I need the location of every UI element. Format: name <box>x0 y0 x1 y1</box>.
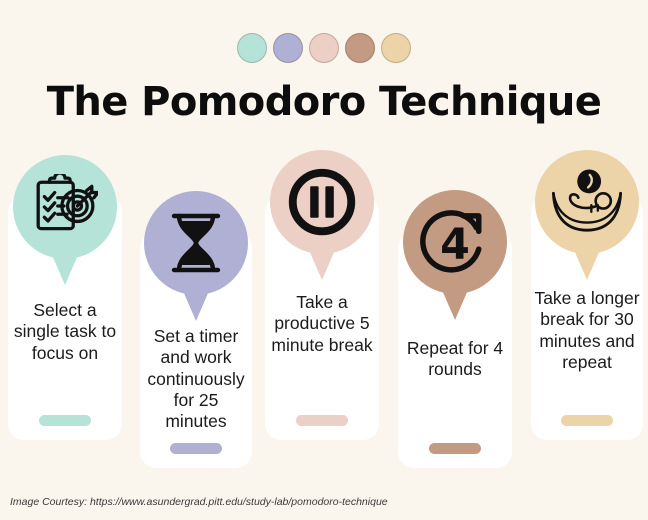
step-card-5: Take a longer break for 30 minutes and r… <box>531 196 643 440</box>
step-icon-bubble-2 <box>144 191 248 295</box>
pause-circle-icon <box>286 166 358 238</box>
step-text-5: Take a longer break for 30 minutes and r… <box>533 288 641 373</box>
swatch-blush <box>309 33 339 63</box>
bubble-tail <box>52 255 78 285</box>
step-icon-bubble-4: 4 <box>403 190 507 294</box>
step-pill-1 <box>39 415 91 426</box>
step-icon-bubble-5 <box>535 150 639 254</box>
step-text-3: Take a productive 5 minute break <box>267 292 377 356</box>
clipboard-target-icon <box>32 174 98 240</box>
color-swatch-row <box>0 33 648 63</box>
swatch-clay <box>345 33 375 63</box>
step-icon-bubble-3 <box>270 150 374 254</box>
step-card-2: Set a timer and work continuously for 25… <box>140 232 252 468</box>
repeat-four-icon: 4 <box>417 204 493 280</box>
step-pill-5 <box>561 415 613 426</box>
bubble-tail <box>574 250 600 280</box>
step-pill-2 <box>170 443 222 454</box>
hourglass-icon <box>167 211 225 275</box>
swatch-periwinkle <box>273 33 303 63</box>
step-card-1: Select a single task to focus on <box>8 196 122 440</box>
swatch-mint <box>237 33 267 63</box>
bubble-tail <box>183 291 209 321</box>
bubble-tail <box>309 250 335 280</box>
step-pill-4 <box>429 443 481 454</box>
step-text-1: Select a single task to focus on <box>10 300 120 364</box>
step-card-3: Take a productive 5 minute break <box>265 196 379 440</box>
step-icon-bubble-1 <box>13 155 117 259</box>
step-pill-3 <box>296 415 348 426</box>
pomodoro-infographic: The Pomodoro Technique <box>0 0 648 520</box>
page-title: The Pomodoro Technique <box>0 79 648 125</box>
swatch-sand <box>381 33 411 63</box>
step-text-4: Repeat for 4 rounds <box>400 338 510 381</box>
step-card-4: 4 Repeat for 4 rounds <box>398 232 512 468</box>
step-text-2: Set a timer and work continuously for 25… <box>142 326 250 433</box>
bubble-tail <box>442 290 468 320</box>
hammock-moon-icon <box>548 166 626 238</box>
image-courtesy-footer: Image Courtesy: https://www.asundergrad.… <box>10 496 388 508</box>
svg-text:4: 4 <box>440 220 470 270</box>
